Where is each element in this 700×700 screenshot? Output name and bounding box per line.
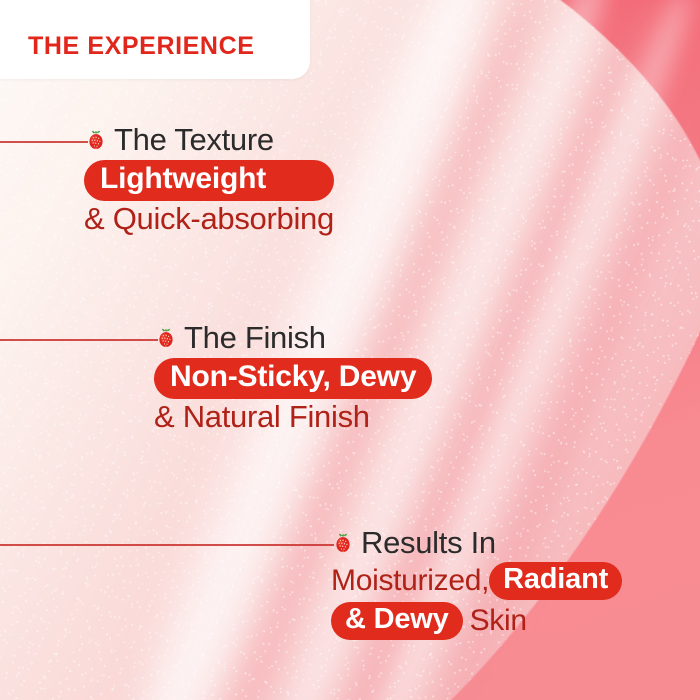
callout-pill-lightweight: Lightweight [84, 160, 334, 201]
callout-head-row: The Finish [154, 322, 432, 355]
results-line-2: Moisturized, Radiant [331, 562, 622, 600]
results-line-3: & Dewy Skin [331, 602, 622, 640]
strawberry-icon [331, 531, 355, 555]
callout-head-row: Results In [331, 527, 622, 560]
callout-texture: The Texture Lightweight & Quick-absorbin… [84, 124, 334, 237]
connector-line-finish [0, 339, 158, 341]
header-banner: THE EXPERIENCE [0, 0, 310, 79]
connector-line-results [0, 544, 334, 546]
callout-heading: Results In [361, 527, 496, 560]
results-pill-radiant: Radiant [489, 562, 622, 600]
callout-tail-text: & Natural Finish [154, 400, 432, 435]
results-plain-skin: Skin [463, 604, 527, 638]
results-plain-moisturized: Moisturized, [331, 564, 489, 598]
callout-tail-text: & Quick-absorbing [84, 202, 334, 237]
callout-pill-non-sticky-dewy: Non-Sticky, Dewy [154, 358, 432, 399]
callout-finish: The Finish Non-Sticky, Dewy & Natural Fi… [154, 322, 432, 435]
experience-infographic: THE EXPERIENCE [0, 0, 700, 700]
callout-heading: The Finish [184, 322, 326, 355]
connector-line-texture [0, 141, 88, 143]
callout-head-row: The Texture [84, 124, 334, 157]
page-title: THE EXPERIENCE [0, 32, 255, 79]
strawberry-icon [154, 326, 178, 350]
strawberry-icon [84, 128, 108, 152]
results-pill-dewy: & Dewy [331, 602, 463, 640]
callout-heading: The Texture [114, 124, 274, 157]
callout-results: Results In Moisturized, Radiant & Dewy S… [331, 527, 622, 640]
